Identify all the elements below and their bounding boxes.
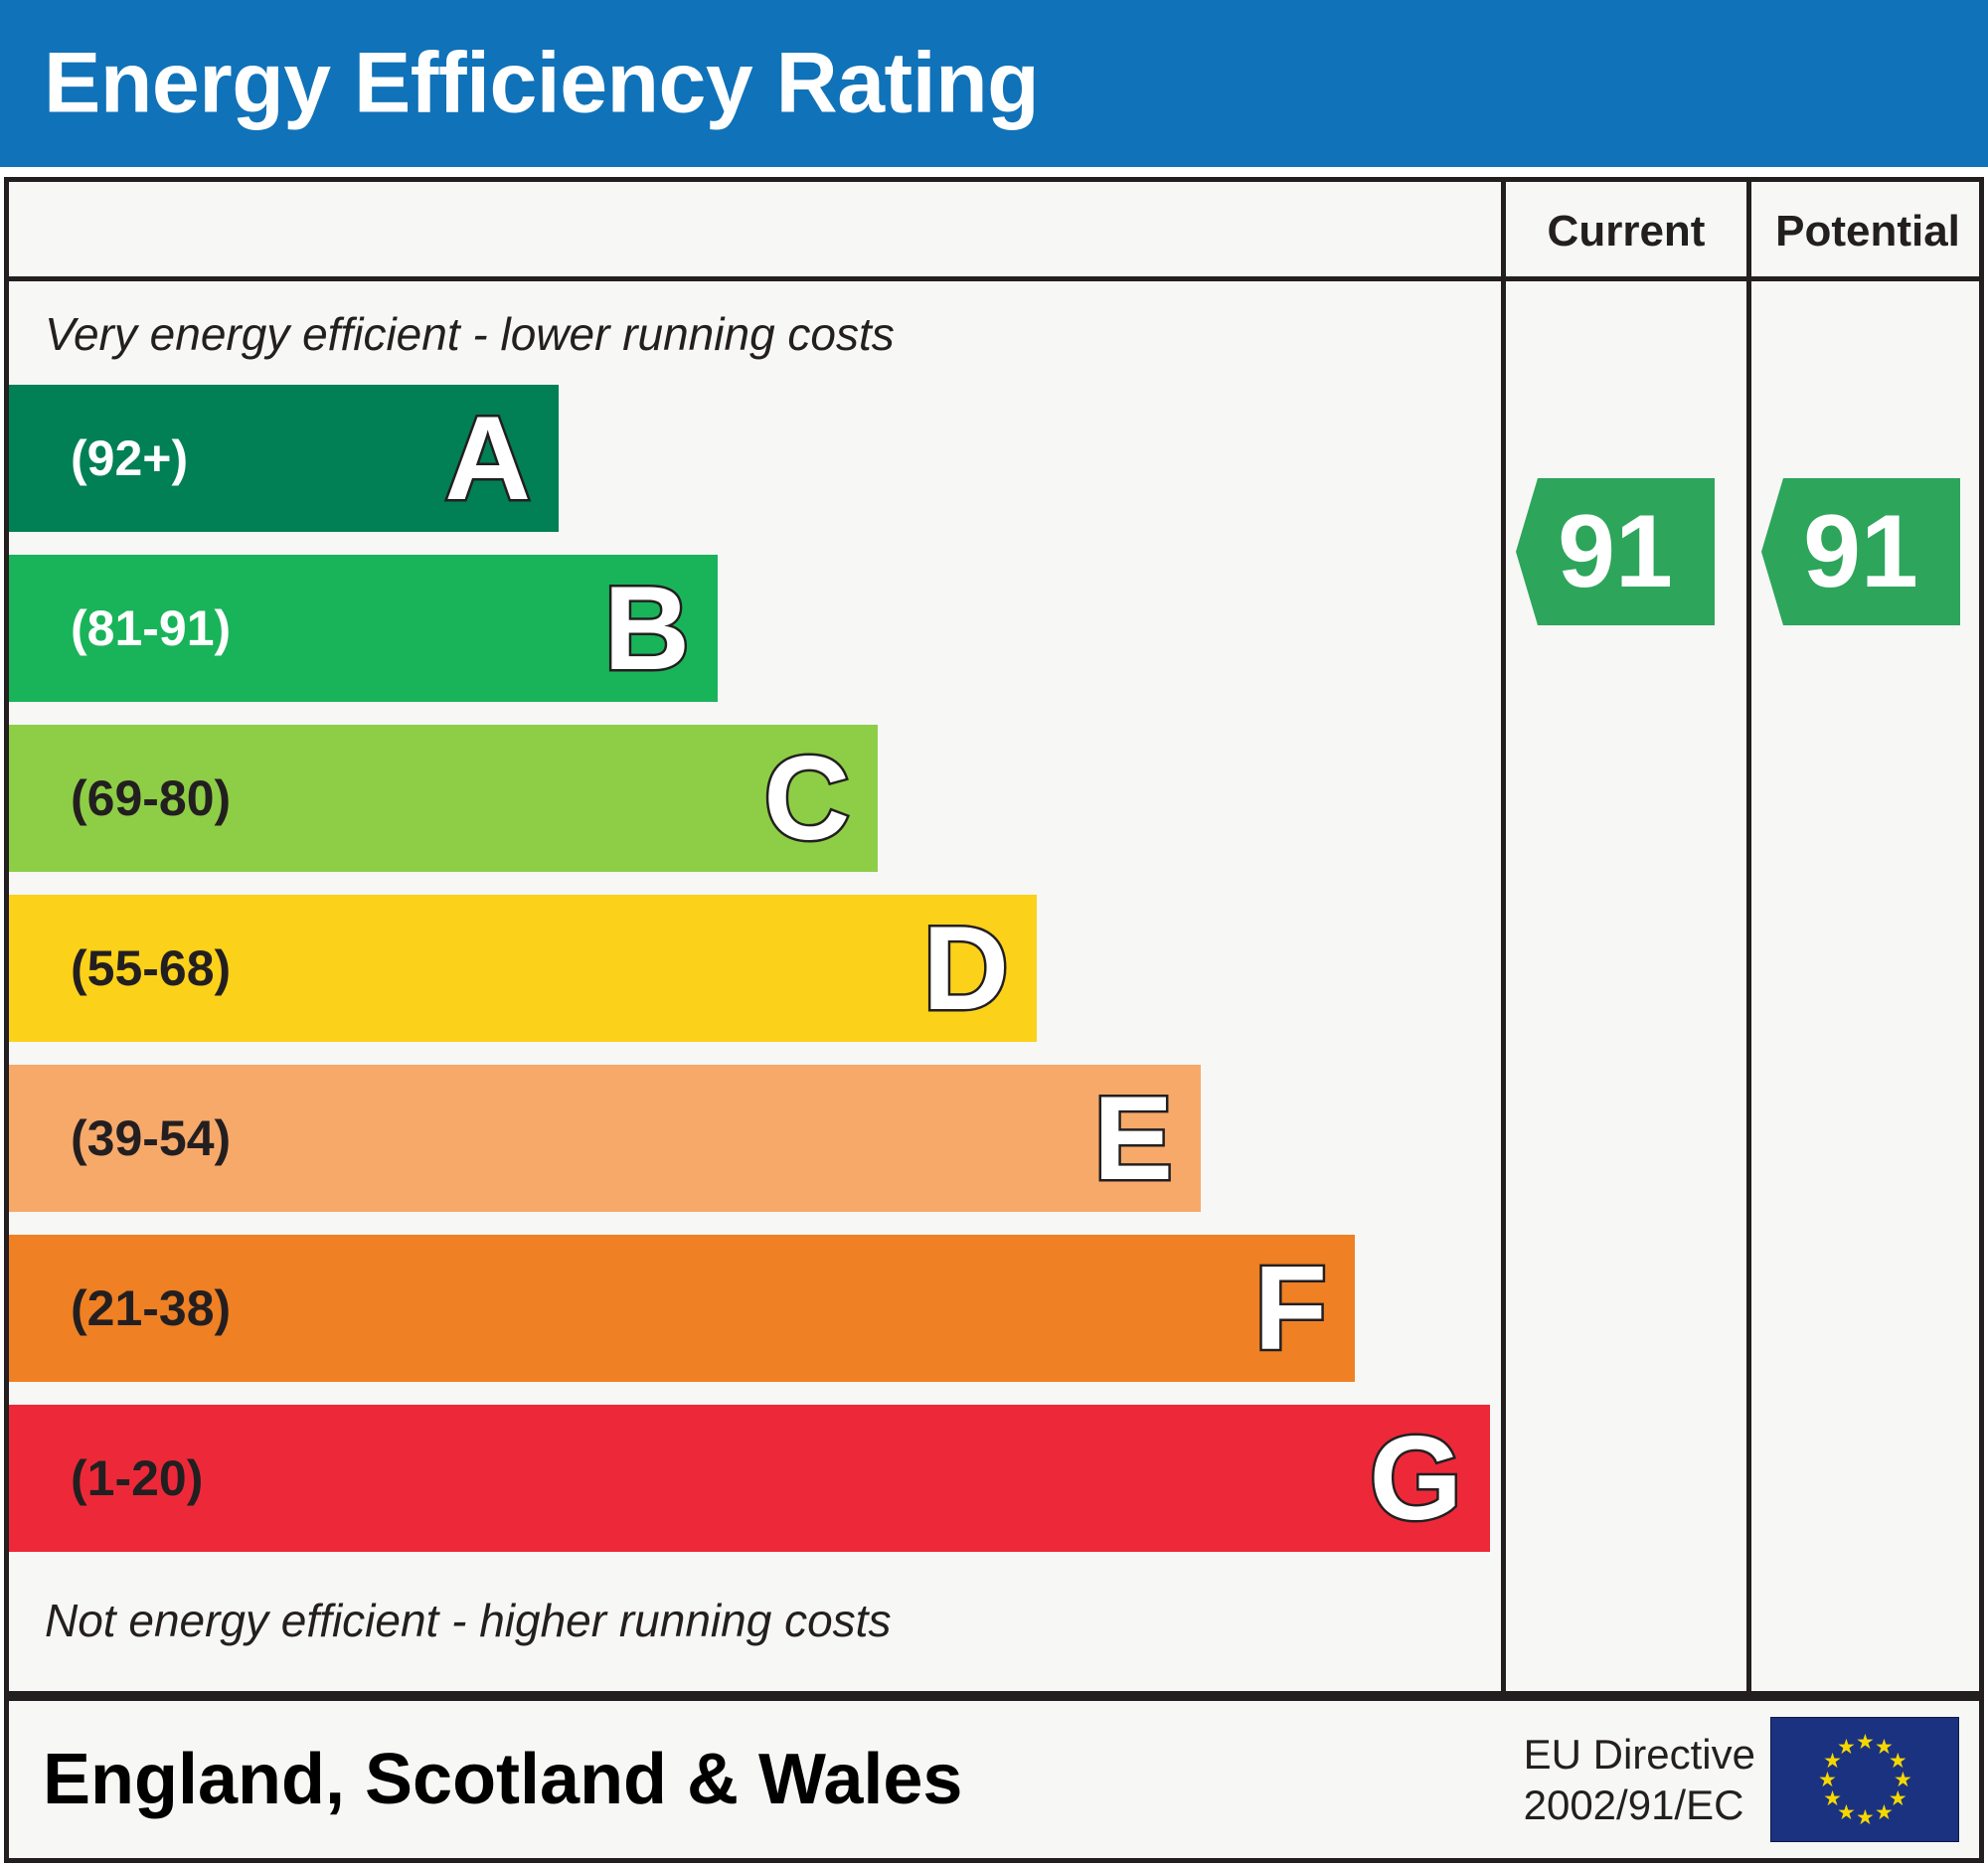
band-letter-d: D (922, 909, 1009, 1028)
caption-efficient: Very energy efficient - lower running co… (45, 307, 895, 361)
band-range-c: (69-80) (71, 769, 231, 827)
potential-rating-arrow: 91 (1761, 478, 1960, 625)
band-g: (1-20)G (9, 1405, 1490, 1552)
band-range-a: (92+) (71, 429, 188, 487)
title-bar: Energy Efficiency Rating (0, 0, 1988, 167)
band-c: (69-80)C (9, 725, 878, 872)
band-letter-e: E (1093, 1079, 1173, 1198)
column-header-potential: Potential (1746, 182, 1984, 281)
band-range-f: (21-38) (71, 1279, 231, 1337)
eu-directive-label: EU Directive 2002/91/EC (1524, 1729, 1755, 1830)
band-d: (55-68)D (9, 895, 1037, 1042)
band-letter-b: B (603, 569, 690, 688)
potential-rating-column: 91 (1751, 281, 1984, 1691)
current-rating-column: 91 (1506, 281, 1746, 1691)
band-list: (92+)A(81-91)B(69-80)C(55-68)D(39-54)E(2… (9, 385, 1501, 1576)
band-chart: Very energy efficient - lower running co… (9, 281, 1501, 1691)
eu-directive-line2: 2002/91/EC (1524, 1780, 1755, 1830)
band-f: (21-38)F (9, 1235, 1355, 1382)
potential-rating-value: 91 (1803, 493, 1918, 611)
band-range-g: (1-20) (71, 1449, 203, 1507)
band-a: (92+)A (9, 385, 559, 532)
current-rating-value: 91 (1558, 493, 1673, 611)
current-rating-arrow: 91 (1516, 478, 1715, 625)
caption-inefficient: Not energy efficient - higher running co… (45, 1594, 891, 1647)
band-letter-f: F (1254, 1249, 1327, 1368)
band-range-d: (55-68) (71, 939, 231, 997)
band-range-b: (81-91) (71, 599, 231, 657)
band-e: (39-54)E (9, 1065, 1201, 1212)
band-b: (81-91)B (9, 555, 718, 702)
energy-efficiency-certificate: Energy Efficiency Rating Current Potenti… (0, 0, 1988, 1867)
band-letter-g: G (1370, 1419, 1462, 1538)
band-letter-c: C (763, 739, 850, 858)
rating-table: Current Potential Very energy efficient … (4, 177, 1984, 1696)
band-range-e: (39-54) (71, 1109, 231, 1167)
band-letter-a: A (444, 399, 531, 518)
region-label: England, Scotland & Wales (43, 1739, 962, 1820)
eu-directive-line1: EU Directive (1524, 1729, 1755, 1780)
column-header-current: Current (1501, 182, 1746, 281)
footer-bar: England, Scotland & Wales EU Directive 2… (4, 1696, 1984, 1863)
page-title: Energy Efficiency Rating (44, 35, 1039, 133)
table-header-row: Current Potential (9, 182, 1979, 281)
eu-flag-icon: ★★★★★★★★★★★★ (1770, 1717, 1959, 1842)
